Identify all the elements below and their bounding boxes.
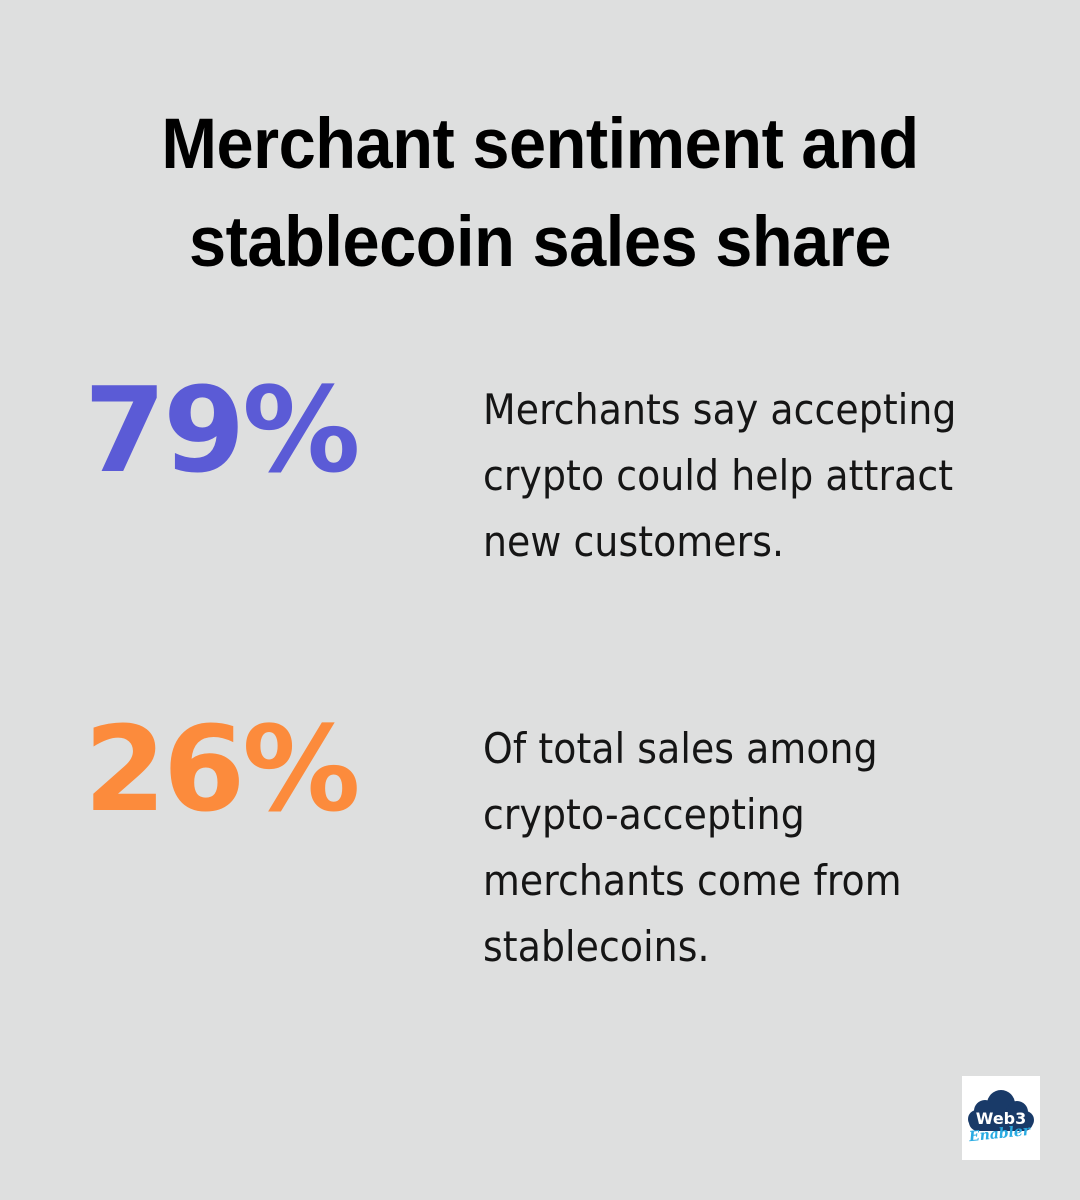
brand-logo: Web3 Enabler [962,1076,1040,1160]
stat-description: Merchants say accepting crypto could hel… [483,368,1080,575]
stat-value-container: 79% [0,368,483,492]
stat-row: 26% Of total sales among crypto-acceptin… [0,707,1080,980]
stat-value-container: 26% [0,707,483,831]
stat-row: 79% Merchants say accepting crypto could… [0,368,1080,575]
stat-value-percentage: 26% [84,707,483,831]
page-title-line-1: Merchant sentiment and [32,96,1047,194]
web3-enabler-cloud-logo: Web3 Enabler [966,1087,1036,1149]
page-title-line-2: stablecoin sales share [32,194,1047,292]
stat-description: Of total sales among crypto-accepting me… [483,707,1080,980]
page-title: Merchant sentiment and stablecoin sales … [0,96,1080,292]
infographic-canvas: Merchant sentiment and stablecoin sales … [0,0,1080,1200]
stat-value-percentage: 79% [84,368,483,492]
